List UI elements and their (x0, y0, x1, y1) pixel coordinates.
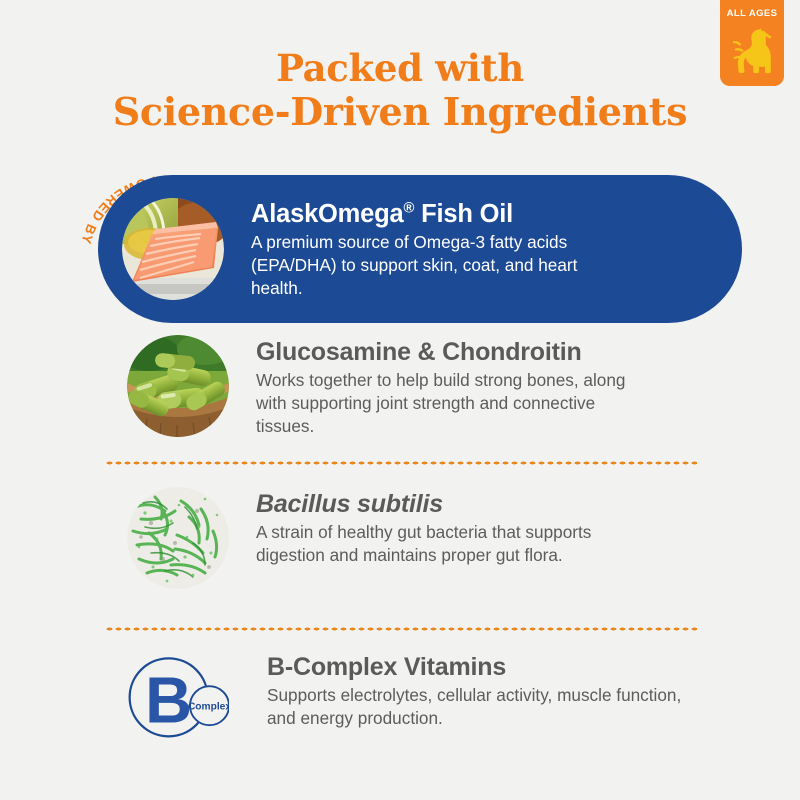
ingredient-title-b-complex: B-Complex Vitamins (267, 652, 687, 682)
ingredient-card-b-complex[interactable]: B Complex B-Complex Vitamins Supports el… (105, 650, 705, 752)
all-ages-badge-label: ALL AGES (727, 9, 778, 19)
infographic-page: { "badge": { "label": "ALL AGES", "icon"… (0, 0, 800, 800)
page-title-line-1: Packed with (0, 46, 800, 90)
ingredient-card-fish-oil[interactable]: AlaskOmega® Fish Oil A premium source of… (98, 175, 742, 323)
ingredient-description-glucosamine: Works together to help build strong bone… (256, 369, 646, 438)
ingredient-card-bacillus[interactable]: Bacillus subtilis A strain of healthy gu… (105, 487, 705, 589)
ingredient-body-glucosamine: Glucosamine & Chondroitin Works together… (256, 335, 646, 438)
bacteria-microscope-photo (127, 487, 229, 589)
ingredient-title-bacillus: Bacillus subtilis (256, 489, 646, 519)
b-complex-letter: B (145, 663, 192, 736)
ingredient-title-fish-oil: AlaskOmega® Fish Oil (251, 199, 619, 229)
ingredient-card-glucosamine[interactable]: Glucosamine & Chondroitin Works together… (105, 335, 705, 438)
ingredient-body-b-complex: B-Complex Vitamins Supports electrolytes… (267, 650, 687, 730)
registered-mark-icon: ® (404, 200, 415, 216)
ingredient-description-bacillus: A strain of healthy gut bacteria that su… (256, 521, 646, 567)
b-complex-sublabel: Complex (188, 701, 229, 712)
ingredient-body-fish-oil: AlaskOmega® Fish Oil A premium source of… (251, 199, 619, 300)
salmon-fillet-photo (122, 198, 224, 300)
ingredient-description-fish-oil: A premium source of Omega-3 fatty acids … (251, 231, 619, 300)
page-title-line-2: Science-Driven Ingredients (0, 90, 800, 134)
ingredient-body-bacillus: Bacillus subtilis A strain of healthy gu… (256, 487, 646, 567)
ingredient-title-main: AlaskOmega (251, 200, 404, 228)
b-complex-logo: B Complex (127, 650, 229, 752)
divider-1 (105, 461, 697, 465)
green-capsules-photo (127, 335, 229, 437)
page-title: Packed with Science-Driven Ingredients (0, 46, 800, 134)
divider-2 (105, 627, 697, 631)
ingredient-description-b-complex: Supports electrolytes, cellular activity… (267, 684, 687, 730)
ingredient-title-suffix: Fish Oil (414, 200, 513, 228)
ingredient-title-glucosamine: Glucosamine & Chondroitin (256, 337, 646, 367)
